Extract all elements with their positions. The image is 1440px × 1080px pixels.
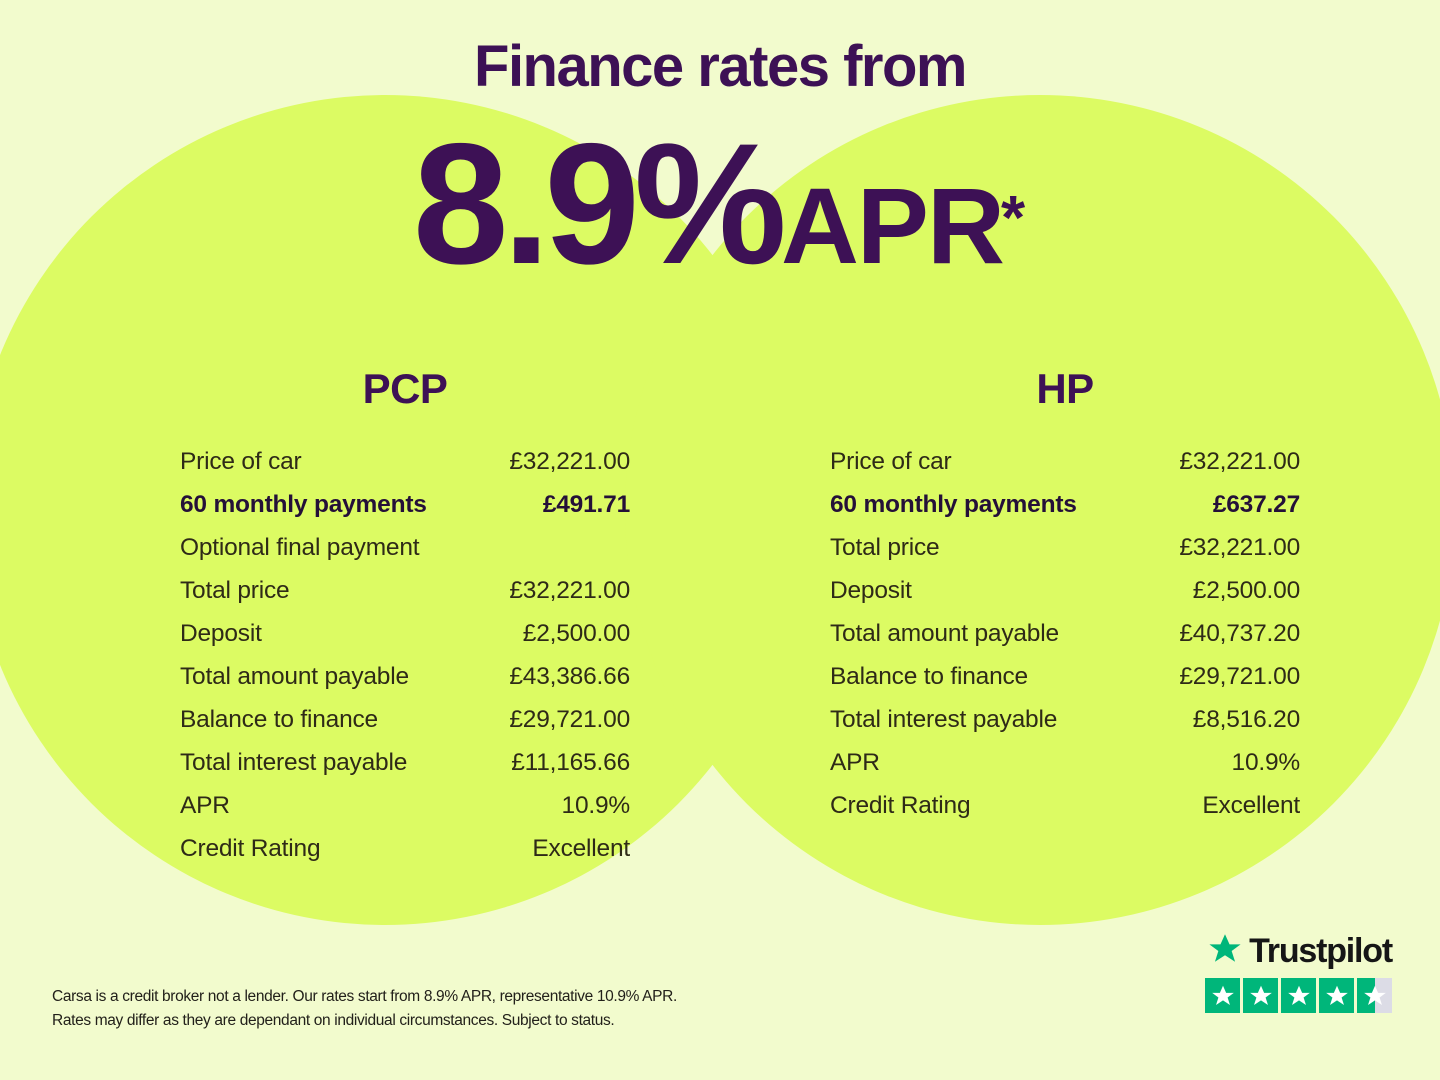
finance-row-value: £8,516.20 [1193,706,1300,734]
headline-footnote-marker: * [1001,184,1025,253]
finance-row: Price of car£32,221.00 [830,448,1300,491]
trustpilot-logo: Trustpilot [1192,930,1392,972]
finance-row-value: £32,221.00 [509,448,630,476]
finance-row: Credit RatingExcellent [180,835,630,878]
finance-row-value: £637.27 [1213,491,1300,519]
finance-row-value: 10.9% [562,792,630,820]
finance-row-label: Total amount payable [830,620,1059,648]
finance-row-label: 60 monthly payments [830,491,1077,519]
finance-row: Total price£32,221.00 [180,577,630,620]
trustpilot-star-icon [1207,932,1243,971]
finance-row: Optional final payment [180,534,630,577]
finance-row-label: Price of car [180,448,302,476]
finance-row-label: Total interest payable [830,706,1057,734]
trustpilot-star-rating [1192,978,1392,1013]
finance-row-value: Excellent [532,835,630,863]
finance-row: APR10.9% [180,792,630,835]
headline-rate-value: 8.9% [413,108,781,300]
trustpilot-full-star-icon [1281,978,1316,1013]
finance-row-value: £11,165.66 [511,749,630,777]
finance-comparison: PCP Price of car£32,221.0060 monthly pay… [0,368,1440,878]
legal-footnote-line-1: Carsa is a credit broker not a lender. O… [52,985,812,1009]
finance-row: Total interest payable£8,516.20 [830,706,1300,749]
finance-row-label: Deposit [180,620,262,648]
trustpilot-half-star-icon [1357,978,1392,1013]
page-title: Finance rates from [0,38,1440,96]
trustpilot-full-star-icon [1205,978,1240,1013]
trustpilot-wordmark-text: Trustpilot [1249,934,1392,968]
finance-row: Price of car£32,221.00 [180,448,630,491]
finance-row-label: Balance to finance [830,663,1028,691]
finance-row-label: Total interest payable [180,749,407,777]
finance-row: Total interest payable£11,165.66 [180,749,630,792]
finance-row-value: £2,500.00 [523,620,630,648]
finance-table-hp: HP Price of car£32,221.0060 monthly paym… [720,368,1440,878]
finance-row: Balance to finance£29,721.00 [830,663,1300,706]
finance-row-label: Deposit [830,577,912,605]
finance-row-label: Balance to finance [180,706,378,734]
finance-row-value: £32,221.00 [509,577,630,605]
finance-row: Balance to finance£29,721.00 [180,706,630,749]
finance-table-pcp: PCP Price of car£32,221.0060 monthly pay… [0,368,720,878]
finance-row-label: APR [830,749,880,777]
finance-row: 60 monthly payments£491.71 [180,491,630,534]
legal-footnote-line-2: Rates may differ as they are dependant o… [52,1009,812,1033]
finance-row-label: Price of car [830,448,952,476]
finance-row-value: £29,721.00 [509,706,630,734]
trustpilot-full-star-icon [1243,978,1278,1013]
finance-row-value: £2,500.00 [1193,577,1300,605]
finance-row: APR10.9% [830,749,1300,792]
headline-rate: 8.9%APR* [0,118,1440,290]
trustpilot-full-star-icon [1319,978,1354,1013]
finance-row-label: Optional final payment [180,534,419,562]
finance-row-value: 10.9% [1232,749,1300,777]
finance-row-label: 60 monthly payments [180,491,427,519]
finance-table-pcp-title: PCP [180,368,630,410]
finance-row: Deposit£2,500.00 [180,620,630,663]
finance-row-label: Total price [180,577,289,605]
finance-row-label: Credit Rating [180,835,320,863]
finance-row-value: £491.71 [543,491,630,519]
finance-row-value: £40,737.20 [1179,620,1300,648]
finance-row-value: £43,386.66 [509,663,630,691]
finance-row-value: Excellent [1202,792,1300,820]
finance-row-value: £32,221.00 [1179,534,1300,562]
finance-table-pcp-rows: Price of car£32,221.0060 monthly payment… [180,448,630,878]
finance-row: 60 monthly payments£637.27 [830,491,1300,534]
finance-row: Total amount payable£40,737.20 [830,620,1300,663]
finance-row: Total amount payable£43,386.66 [180,663,630,706]
legal-footnote: Carsa is a credit broker not a lender. O… [52,985,812,1033]
finance-row: Total price£32,221.00 [830,534,1300,577]
finance-row-label: Total price [830,534,939,562]
trustpilot-rating: Trustpilot [1192,930,1392,1013]
headline-rate-unit: APR [781,165,1003,286]
finance-row: Deposit£2,500.00 [830,577,1300,620]
finance-row-label: Total amount payable [180,663,409,691]
finance-row-value: £29,721.00 [1179,663,1300,691]
finance-row: Credit RatingExcellent [830,792,1300,835]
finance-row-value: £32,221.00 [1179,448,1300,476]
finance-table-hp-title: HP [830,368,1300,410]
finance-row-label: Credit Rating [830,792,970,820]
finance-table-hp-rows: Price of car£32,221.0060 monthly payment… [830,448,1300,835]
finance-row-label: APR [180,792,230,820]
